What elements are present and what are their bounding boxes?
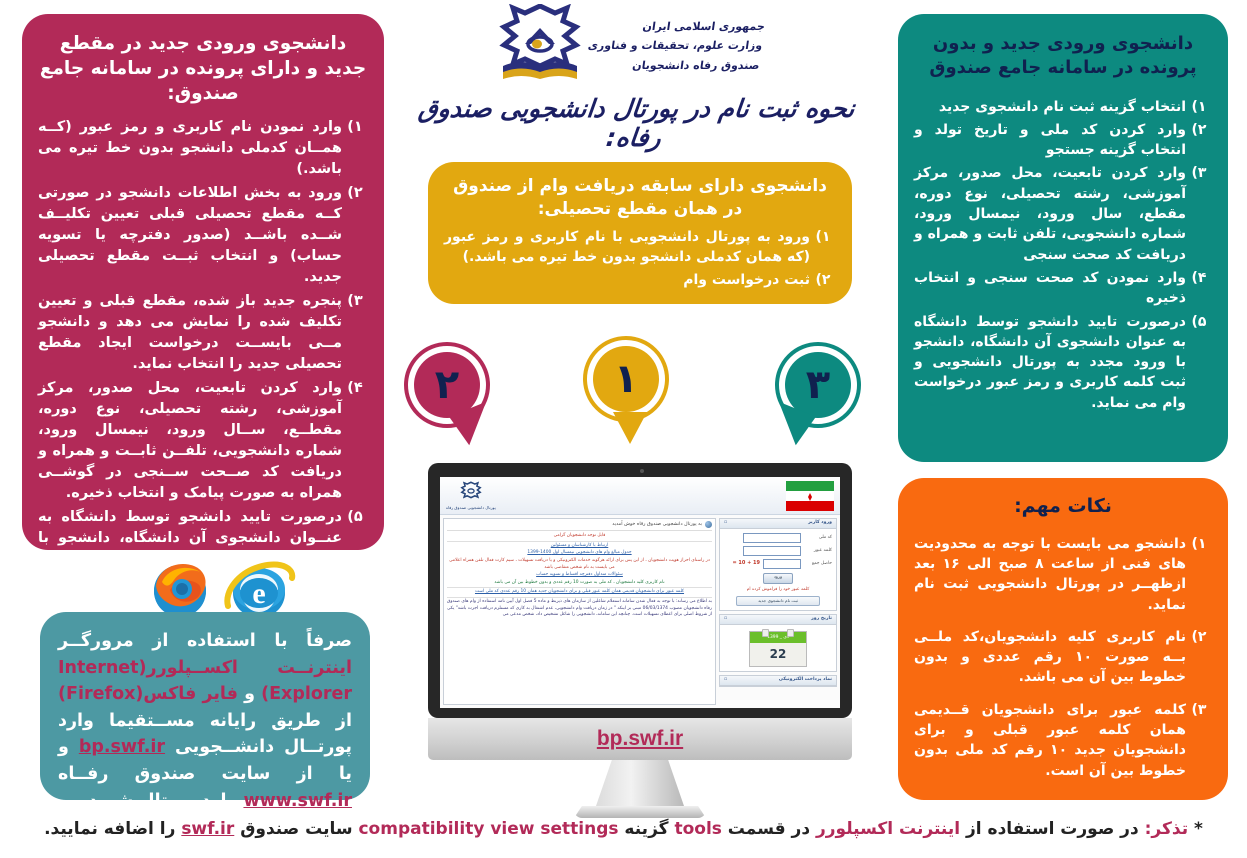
ministry-line-2: وزارت علوم، تحقیقات و فناوری <box>587 36 764 55</box>
list-item: ۲)نام کاربری کلیه دانشجویان،کد ملــی بــ… <box>914 627 1212 688</box>
list-item: ۵)درصورت تایید دانشجو توسط دانشگاه به عن… <box>914 312 1212 413</box>
browser-requirement-text: صرفاً با استفاده از مرورگــر اینترنــت ا… <box>58 628 352 814</box>
step-text: دانشجو می بایست با توجه به محدودیت های ف… <box>914 534 1186 615</box>
step-text: وارد نمودن نام کاربری و رمز عبور (کــه ه… <box>38 117 342 180</box>
panel-new-student-with-file: دانشجوی ورودی جدید در مقطع جدید و دارای … <box>22 14 384 550</box>
site-header: پورتال دانشجویی صندوق رفاه <box>440 477 840 515</box>
announcement-item[interactable]: ارتباط با کارشناسان و مسئولین <box>447 543 712 550</box>
step-number: ۳) <box>1186 163 1212 264</box>
step-text: نام کاربری کلیه دانشجویان،کد ملــی بــه … <box>914 627 1186 688</box>
forgot-password-link[interactable]: کلمه عبور خود را فراموش کرده ام <box>724 587 832 593</box>
announcement-item[interactable]: جدول مبالغ وام های دانشجویی نیمسال اول 1… <box>447 550 712 557</box>
site-logo: پورتال دانشجویی صندوق رفاه <box>446 481 496 511</box>
panel-title: دانشجوی دارای سابقه دریافت وام از صندوق … <box>444 175 836 221</box>
step-text: ورود به بخش اطلاعات دانشجو در صورتی کــه… <box>38 183 342 288</box>
panel-title: دانشجوی ورودی جدید در مقطع جدید و دارای … <box>38 32 368 107</box>
step-text: کلمه عبور برای دانشجویان قــدیمی همان کل… <box>914 700 1186 781</box>
steps-list: ۱)انتخاب گزینه ثبت نام دانشجوی جدید ۲)وا… <box>914 97 1212 413</box>
date-widget: تاریخ روز ▫ دی _ 1399 <box>719 614 837 672</box>
note-compatibility-setting: compatibility view settings <box>358 818 618 840</box>
register-new-student-button[interactable]: ثبت نام دانشجوی جدید <box>736 596 820 606</box>
step-number: ۳) <box>1186 700 1212 781</box>
site-brand-caption: پورتال دانشجویی صندوق رفاه <box>446 505 496 511</box>
site-sidebar: ورود کاربر ▫ کد ملی کلمه عبور <box>719 518 837 705</box>
monitor-mockup: پورتال دانشجویی صندوق رفاه ورود کاربر ▫ <box>428 463 852 803</box>
panel-title: دانشجوی ورودی جدید و بدون پرونده در ساما… <box>914 32 1212 81</box>
password-input[interactable] <box>743 546 801 556</box>
national-id-label: کد ملی <box>804 535 832 542</box>
announcement-item: به اطلاع می رساند: با توجه به فعال شدن س… <box>447 599 712 619</box>
note-swf-site: swf.ir <box>181 818 234 840</box>
monitor-bezel: پورتال دانشجویی صندوق رفاه ورود کاربر ▫ <box>428 463 852 718</box>
login-widget-title: ورود کاربر <box>808 520 832 527</box>
panel-new-student-no-file: دانشجوی ورودی جدید و بدون پرونده در ساما… <box>898 14 1228 462</box>
note-part-1: در صورت استفاده از <box>960 819 1139 839</box>
step-badge-2: ۲ <box>404 342 490 428</box>
bottom-note: * تذکر: در صورت استفاده از اینترنت اکسپل… <box>0 818 1247 840</box>
password-label: کلمه عبور <box>804 548 832 555</box>
monitor-url-label[interactable]: bp.swf.ir <box>597 727 683 751</box>
captcha-input[interactable] <box>763 559 801 569</box>
calendar-icon: دی _ 1399 22 <box>749 631 807 667</box>
step-text: پنجره جدید باز شده، مقطع قبلی و تعیین تک… <box>38 291 342 375</box>
step-text: انتخاب گزینه ثبت نام دانشجوی جدید <box>914 97 1186 117</box>
calendar-ring-left <box>762 629 769 637</box>
captcha-row: حاصل جمع = 10 + 19 <box>724 559 832 569</box>
step-number: ۱) <box>810 227 836 268</box>
calendar-ring-right <box>787 629 794 637</box>
list-item: ۱)دانشجو می بایست با توجه به محدودیت های… <box>914 534 1212 615</box>
panel-title: نکات مهم: <box>914 494 1212 520</box>
step-number: ۴) <box>342 378 368 504</box>
note-part-4: سایت صندوق <box>234 819 358 839</box>
badge-pointer-icon <box>613 412 647 444</box>
login-widget-header: ورود کاربر ▫ <box>720 519 836 529</box>
divider <box>447 597 712 598</box>
ministry-caption: جمهوری اسلامی ایران وزارت علوم، تحقیقات … <box>584 17 766 75</box>
step-badge-3: ۳ <box>775 342 861 428</box>
monitor-chin: bp.swf.ir <box>428 718 852 760</box>
step-number: ۲) <box>1186 120 1212 161</box>
step-text: وارد کردن تابعیت، محل صدور، مرکز آموزشی،… <box>38 378 342 504</box>
site-welcome-row: به پورتال دانشجویی صندوق رفاه خوش آمدید <box>447 521 712 531</box>
announcement-item: نام کاربری کلیه دانشجویان ، کد ملی به صو… <box>447 580 712 587</box>
steps-list: ۱)ورود به پورتال دانشجویی با نام کاربری … <box>444 227 836 291</box>
announcement-item: کلمه عبور برای دانشجویان قدیمی همان کلمه… <box>447 589 712 596</box>
step-number: ۱) <box>342 117 368 180</box>
iran-flag-icon <box>786 481 834 511</box>
list-item: ۳)وارد کردن تابعیت، محل صدور، مرکز آموزش… <box>914 163 1212 264</box>
login-widget-body: کد ملی کلمه عبور حاصل جمع <box>720 529 836 610</box>
ministry-line-3: صندوق رفاه دانشجویان <box>584 56 761 75</box>
step-number: ۱) <box>1186 97 1212 117</box>
payment-widget-title: نماد پرداخت الکترونیکی <box>779 677 832 684</box>
announcement-item: قابل توجه دانشجویان گرامی <box>447 533 712 540</box>
list-item: ۱)ورود به پورتال دانشجویی با نام کاربری … <box>444 227 836 268</box>
step-text: وارد کردن کد ملی و تاریخ تولد و انتخاب گ… <box>914 120 1186 161</box>
badge-label: ۱ <box>593 346 659 412</box>
step-number: ۴) <box>1186 268 1212 309</box>
announcement-item: در راستای احراز هویت دانشجویان ، از این … <box>447 558 712 571</box>
list-item: ۴)وارد کردن تابعیت، محل صدور، مرکز آموزش… <box>38 378 368 504</box>
national-id-row: کد ملی <box>724 533 832 543</box>
date-widget-header: تاریخ روز ▫ <box>720 615 836 625</box>
browser-text-part-1: صرفاً با استفاده از مرورگــر <box>58 631 352 651</box>
panel-important-notes: نکات مهم: ۱)دانشجو می بایست با توجه به م… <box>898 478 1228 800</box>
panel-browser-requirement: صرفاً با استفاده از مرورگــر اینترنــت ا… <box>40 612 370 800</box>
monitor-screen: پورتال دانشجویی صندوق رفاه ورود کاربر ▫ <box>440 477 840 708</box>
list-item: ۲)ثبت درخواست وام <box>444 270 836 290</box>
infographic-canvas: جمهوری اسلامی ایران وزارت علوم، تحقیقات … <box>0 0 1247 858</box>
site-body: ورود کاربر ▫ کد ملی کلمه عبور <box>440 515 840 708</box>
captcha-label: حاصل جمع <box>804 561 832 568</box>
globe-icon <box>705 521 712 528</box>
steps-list: ۱)دانشجو می بایست با توجه به محدودیت های… <box>914 534 1212 781</box>
note-browser-name: اینترنت اکسپلورر <box>816 819 960 839</box>
date-widget-body: دی _ 1399 22 <box>720 625 836 671</box>
step-badge-1: ۱ <box>583 336 669 422</box>
step-text: درصورت تایید دانشجو توسط دانشگاه به عنوا… <box>914 312 1186 413</box>
login-widget: ورود کاربر ▫ کد ملی کلمه عبور <box>719 518 837 611</box>
browser-text-part-2: و <box>238 684 261 704</box>
date-widget-title: تاریخ روز <box>811 616 832 623</box>
monitor-stand-foot <box>574 806 706 818</box>
list-item: ۱)انتخاب گزینه ثبت نام دانشجوی جدید <box>914 97 1212 117</box>
announcement-item[interactable]: سئوالات متداول دفترچه اقساط و تسویه حساب <box>447 572 712 579</box>
step-number: ۱) <box>1186 534 1212 615</box>
swf-ministry-logo-icon <box>497 4 583 88</box>
step-number: ۲) <box>342 183 368 288</box>
collapse-icon[interactable]: ▫ <box>724 677 727 684</box>
note-label: تذکر: <box>1145 819 1188 839</box>
list-item: ۳)کلمه عبور برای دانشجویان قــدیمی همان … <box>914 700 1212 781</box>
browser-text-part-5: وارد پورتال شوید. <box>82 791 244 811</box>
webcam-icon <box>640 469 644 473</box>
calendar-day: 22 <box>750 643 806 666</box>
national-id-input[interactable] <box>743 533 801 543</box>
step-number: ۲) <box>1186 627 1212 688</box>
step-text: وارد نمودن کد صحت سنجی و انتخاب ذخیره <box>914 268 1186 309</box>
list-item: ۲)ورود به بخش اطلاعات دانشجو در صورتی کـ… <box>38 183 368 288</box>
step-number: ۲) <box>810 270 836 290</box>
payment-widget: نماد پرداخت الکترونیکی ▫ <box>719 675 837 687</box>
list-item: ۱)وارد نمودن نام کاربری و رمز عبور (کــه… <box>38 117 368 180</box>
swf-site-url-link[interactable]: www.swf.ir <box>243 791 352 811</box>
header-block: جمهوری اسلامی ایران وزارت علوم، تحقیقات … <box>400 4 870 152</box>
step-number: ۵) <box>342 507 368 612</box>
note-part-2: در قسمت <box>722 819 816 839</box>
page-title: نحوه ثبت نام در پورتال دانشجویی صندوق رف… <box>397 94 873 152</box>
portal-website: پورتال دانشجویی صندوق رفاه ورود کاربر ▫ <box>440 477 840 708</box>
divider <box>447 541 712 542</box>
collapse-icon[interactable]: ▫ <box>724 616 727 623</box>
note-star: * <box>1194 819 1203 839</box>
login-submit-button[interactable]: ورود <box>763 573 793 584</box>
svg-text:e: e <box>252 577 265 610</box>
portal-url-link[interactable]: bp.swf.ir <box>79 737 165 757</box>
password-row: کلمه عبور <box>724 546 832 556</box>
panel-existing-loan-student: دانشجوی دارای سابقه دریافت وام از صندوق … <box>428 162 852 304</box>
captcha-question: = 10 + 19 <box>732 560 760 568</box>
calendar-month: دی _ 1399 <box>750 632 806 643</box>
list-item: ۲)وارد کردن کد ملی و تاریخ تولد و انتخاب… <box>914 120 1212 161</box>
payment-widget-header: نماد پرداخت الکترونیکی ▫ <box>720 676 836 686</box>
step-text: وارد کردن تابعیت، محل صدور، مرکز آموزشی،… <box>914 163 1186 264</box>
note-part-5: را اضافه نمایید. <box>44 819 181 839</box>
monitor-stand-neck <box>596 760 684 806</box>
list-item: ۴)وارد نمودن کد صحت سنجی و انتخاب ذخیره <box>914 268 1212 309</box>
step-text: ثبت درخواست وام <box>444 270 810 290</box>
site-main-content: به پورتال دانشجویی صندوق رفاه خوش آمدید … <box>443 518 716 705</box>
note-part-3: گزینه <box>619 819 675 839</box>
calendar-month-label: دی _ 1399 <box>767 635 789 640</box>
step-text: ورود به پورتال دانشجویی با نام کاربری و … <box>444 227 810 268</box>
ministry-line-1: جمهوری اسلامی ایران <box>590 17 767 36</box>
collapse-icon[interactable]: ▫ <box>724 520 727 527</box>
steps-list: ۱)وارد نمودن نام کاربری و رمز عبور (کــه… <box>38 117 368 612</box>
welcome-text: به پورتال دانشجویی صندوق رفاه خوش آمدید <box>612 521 702 528</box>
list-item: ۳)پنجره جدید باز شده، مقطع قبلی و تعیین … <box>38 291 368 375</box>
note-tools-menu: tools <box>674 818 721 840</box>
step-number: ۳) <box>342 291 368 375</box>
browser-name-firefox: فایر فاکس(Firefox) <box>58 684 238 704</box>
step-number: ۵) <box>1186 312 1212 413</box>
